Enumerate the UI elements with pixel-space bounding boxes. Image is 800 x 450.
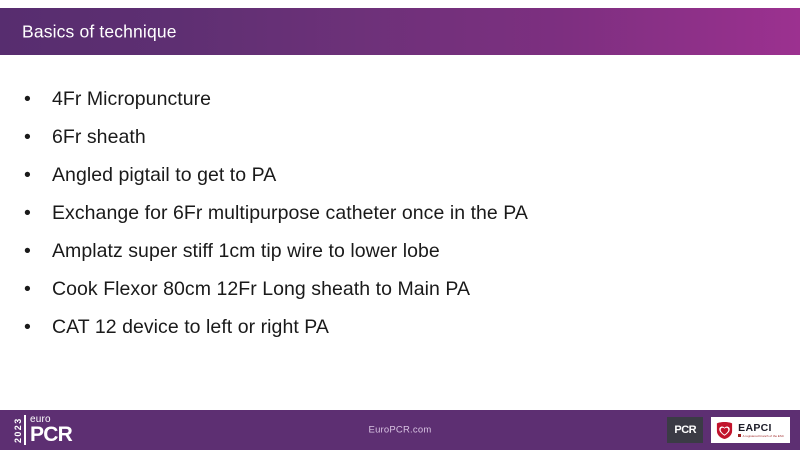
bullet-point-icon: • bbox=[24, 156, 31, 194]
list-item-label: Amplatz super stiff 1cm tip wire to lowe… bbox=[52, 232, 440, 270]
list-item: • Angled pigtail to get to PA bbox=[0, 156, 800, 194]
list-item: • Cook Flexor 80cm 12Fr Long sheath to M… bbox=[0, 270, 800, 308]
list-item-label: Cook Flexor 80cm 12Fr Long sheath to Mai… bbox=[52, 270, 470, 308]
slide-header-bar: Basics of technique bbox=[0, 8, 800, 55]
list-item-label: Angled pigtail to get to PA bbox=[52, 156, 276, 194]
list-item-label: 6Fr sheath bbox=[52, 118, 146, 156]
heart-shield-icon bbox=[715, 421, 734, 440]
bullet-point-icon: • bbox=[24, 308, 31, 346]
slide-footer-bar: 2023 euro PCR EuroPCR.com PCR EAPCI bbox=[0, 410, 800, 450]
list-item-label: Exchange for 6Fr multipurpose catheter o… bbox=[52, 194, 528, 232]
bullet-point-icon: • bbox=[24, 270, 31, 308]
eapci-text-column: EAPCI A registered branch of the ESC bbox=[738, 423, 784, 438]
list-item: • 6Fr sheath bbox=[0, 118, 800, 156]
slide-canvas: Basics of technique • 4Fr Micropuncture … bbox=[0, 0, 800, 450]
bullet-point-icon: • bbox=[24, 80, 31, 118]
bullet-list: • 4Fr Micropuncture • 6Fr sheath • Angle… bbox=[0, 80, 800, 346]
bullet-point-icon: • bbox=[24, 118, 31, 156]
eapci-square-icon bbox=[738, 434, 741, 437]
list-item: • 4Fr Micropuncture bbox=[0, 80, 800, 118]
slide-body: • 4Fr Micropuncture • 6Fr sheath • Angle… bbox=[0, 80, 800, 400]
list-item: • CAT 12 device to left or right PA bbox=[0, 308, 800, 346]
list-item-label: CAT 12 device to left or right PA bbox=[52, 308, 329, 346]
bullet-point-icon: • bbox=[24, 194, 31, 232]
pcr-badge: PCR bbox=[667, 417, 703, 443]
footer-logo-group: PCR EAPCI A registered branch of the ESC bbox=[667, 417, 790, 443]
page-title: Basics of technique bbox=[22, 21, 177, 42]
list-item: • Amplatz super stiff 1cm tip wire to lo… bbox=[0, 232, 800, 270]
eapci-subtitle-label: A registered branch of the ESC bbox=[743, 434, 784, 438]
eapci-badge: EAPCI A registered branch of the ESC bbox=[711, 417, 790, 443]
eapci-name-label: EAPCI bbox=[738, 423, 784, 434]
list-item-label: 4Fr Micropuncture bbox=[52, 80, 211, 118]
bullet-point-icon: • bbox=[24, 232, 31, 270]
list-item: • Exchange for 6Fr multipurpose catheter… bbox=[0, 194, 800, 232]
eapci-subtitle: A registered branch of the ESC bbox=[738, 434, 784, 438]
